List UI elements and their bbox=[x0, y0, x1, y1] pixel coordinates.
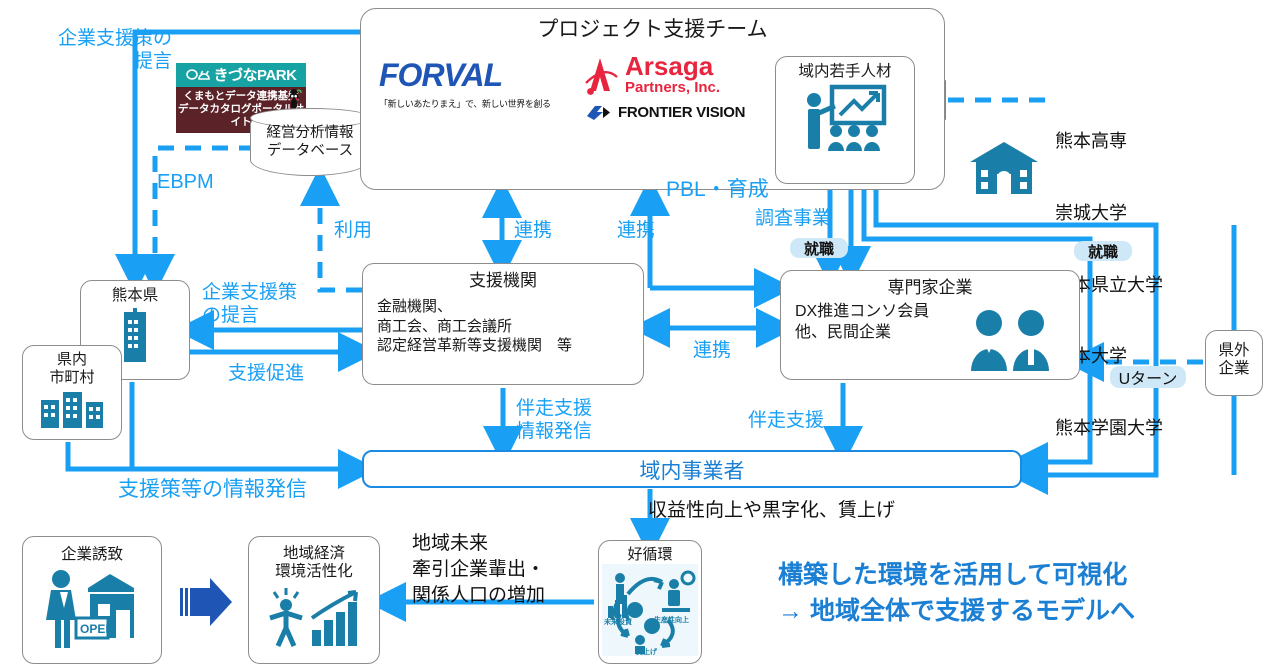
label-renkei-right: 連携 bbox=[693, 340, 731, 363]
growth-celebration-icon bbox=[262, 584, 366, 650]
label-future-growth: 地域未来 牽引企業輩出・ 関係人口の増加 bbox=[412, 531, 545, 610]
university-item: 熊本高専 bbox=[1055, 130, 1163, 154]
virtuous-cycle-diagram-icon: 未来投資 生産性向上 賃上げ bbox=[602, 564, 698, 656]
label-proposal-top: 企業支援策の 提言 bbox=[22, 28, 172, 74]
corporate-attraction-title: 企業誘致 bbox=[61, 546, 123, 564]
arsaga-subtitle: Partners, Inc. bbox=[625, 79, 720, 97]
badge-uturn: Uターン bbox=[1110, 366, 1186, 388]
frontier-vision-wordmark: FRONTIER VISION bbox=[618, 104, 745, 121]
kizuna-mark-icon bbox=[186, 68, 212, 81]
database-cylinder: 経営分析情報 データベース bbox=[250, 108, 370, 176]
out-of-prefecture-companies-title: 県外 企業 bbox=[1218, 342, 1249, 379]
forval-logo: FORVAL 「新しいあたりまえ」で、新しい世界を創る bbox=[379, 59, 564, 110]
cycle-label-productivity: 生産性向上 bbox=[654, 615, 689, 624]
virtuous-cycle-title: 好循環 bbox=[627, 546, 672, 564]
municipalities-box[interactable]: 県内 市町村 bbox=[22, 345, 122, 440]
label-ebpm: EBPM bbox=[157, 170, 214, 194]
kizuna-park-title-bar: きづなPARK bbox=[176, 63, 306, 87]
regional-economy-title: 地域経済 環境活性化 bbox=[275, 545, 353, 582]
municipal-buildings-icon bbox=[37, 388, 107, 428]
badge-employment-left: 就職 bbox=[790, 238, 848, 258]
label-support-promotion: 支援促進 bbox=[228, 363, 304, 386]
forval-tagline: 「新しいあたりまえ」で、新しい世界を創る bbox=[379, 97, 564, 110]
label-proposal-mid: 企業支援策 の提言 bbox=[202, 282, 297, 328]
local-businesses-title: 域内事業者 bbox=[640, 460, 745, 485]
database-label: 経営分析情報 データベース bbox=[250, 124, 370, 160]
label-pbl: PBL・育成 bbox=[666, 173, 769, 203]
virtuous-cycle-box[interactable]: 好循環 未来投資 生産性向上 賃上げ bbox=[598, 540, 702, 664]
university-item: 崇城大学 bbox=[1055, 202, 1163, 226]
local-youth-talent-title: 域内若手人材 bbox=[798, 63, 891, 81]
teacher-classroom-icon bbox=[792, 83, 898, 155]
support-organizations-title: 支援機関 bbox=[469, 271, 537, 291]
label-accompaniment: 伴走支援 bbox=[748, 410, 824, 433]
arsaga-mark-icon bbox=[583, 53, 619, 97]
business-people-icon bbox=[961, 307, 1065, 373]
support-organizations-box[interactable]: 支援機関 金融機関、 商工会、商工会議所 認定経営革新等支援機関 等 bbox=[362, 263, 644, 385]
progress-arrow-icon bbox=[176, 572, 236, 632]
support-organizations-body: 金融機関、 商工会、商工会議所 認定経営革新等支援機関 等 bbox=[377, 297, 572, 356]
expert-companies-body: DX推進コンソ会員 他、民間企業 bbox=[795, 302, 929, 344]
university-item: 熊本学園大学 bbox=[1055, 417, 1163, 441]
out-of-prefecture-companies-box[interactable]: 県外 企業 bbox=[1205, 330, 1263, 396]
label-profitability: 収益性向上や黒字化、賃上げ bbox=[648, 499, 895, 524]
corporate-attraction-box[interactable]: 企業誘致 OPEN bbox=[22, 536, 162, 664]
regional-economy-box[interactable]: 地域経済 環境活性化 bbox=[248, 536, 380, 664]
forval-wordmark: FORVAL bbox=[379, 59, 564, 91]
expert-companies-title: 専門家企業 bbox=[888, 278, 973, 298]
kizuna-park-label: きづなPARK bbox=[214, 64, 297, 85]
kumamon-mascot-icon bbox=[286, 88, 302, 110]
label-renkei-center: 連携 bbox=[617, 220, 655, 243]
label-survey-project: 調査事業 bbox=[755, 208, 831, 231]
badge-employment-right: 就職 bbox=[1074, 241, 1132, 261]
municipalities-title: 県内 市町村 bbox=[49, 351, 94, 386]
shop-opening-icon: OPEN bbox=[38, 566, 146, 650]
arsaga-wordmark: Arsaga bbox=[625, 53, 720, 79]
label-policy-info: 支援策等の情報発信 bbox=[118, 477, 307, 502]
cycle-label-wage-increase: 賃上げ bbox=[635, 647, 658, 656]
project-support-team-title: プロジェクト支援チーム bbox=[361, 18, 944, 43]
label-renkei-left: 連携 bbox=[514, 220, 552, 243]
expert-companies-box[interactable]: 専門家企業 DX推進コンソ会員 他、民間企業 bbox=[780, 270, 1080, 380]
label-riyou: 利用 bbox=[334, 220, 372, 243]
diagram-canvas: 企業支援策の 提言 きづなPARK くまもとデータ連携基盤 データカタログポータ… bbox=[0, 0, 1272, 671]
frontier-vision-mark-icon bbox=[585, 104, 611, 121]
local-youth-talent-box[interactable]: 域内若手人材 bbox=[775, 56, 915, 184]
school-building-icon bbox=[966, 140, 1042, 198]
frontier-vision-logo: FRONTIER VISION bbox=[585, 104, 745, 121]
government-building-icon bbox=[118, 308, 152, 364]
conclusion-text: 構築した環境を活用して可視化 → 地域全体で支援するモデルへ bbox=[778, 558, 1135, 629]
arsaga-logo: Arsaga Partners, Inc. FRONTIER VISION bbox=[583, 53, 745, 121]
svg-text:OPEN: OPEN bbox=[80, 622, 114, 636]
kumamoto-prefecture-title: 熊本県 bbox=[112, 287, 159, 305]
local-businesses-bar[interactable]: 域内事業者 bbox=[362, 450, 1022, 488]
cycle-label-future-investment: 未来投資 bbox=[604, 617, 632, 626]
label-accompaniment-info: 伴走支援 情報発信 bbox=[516, 398, 592, 444]
